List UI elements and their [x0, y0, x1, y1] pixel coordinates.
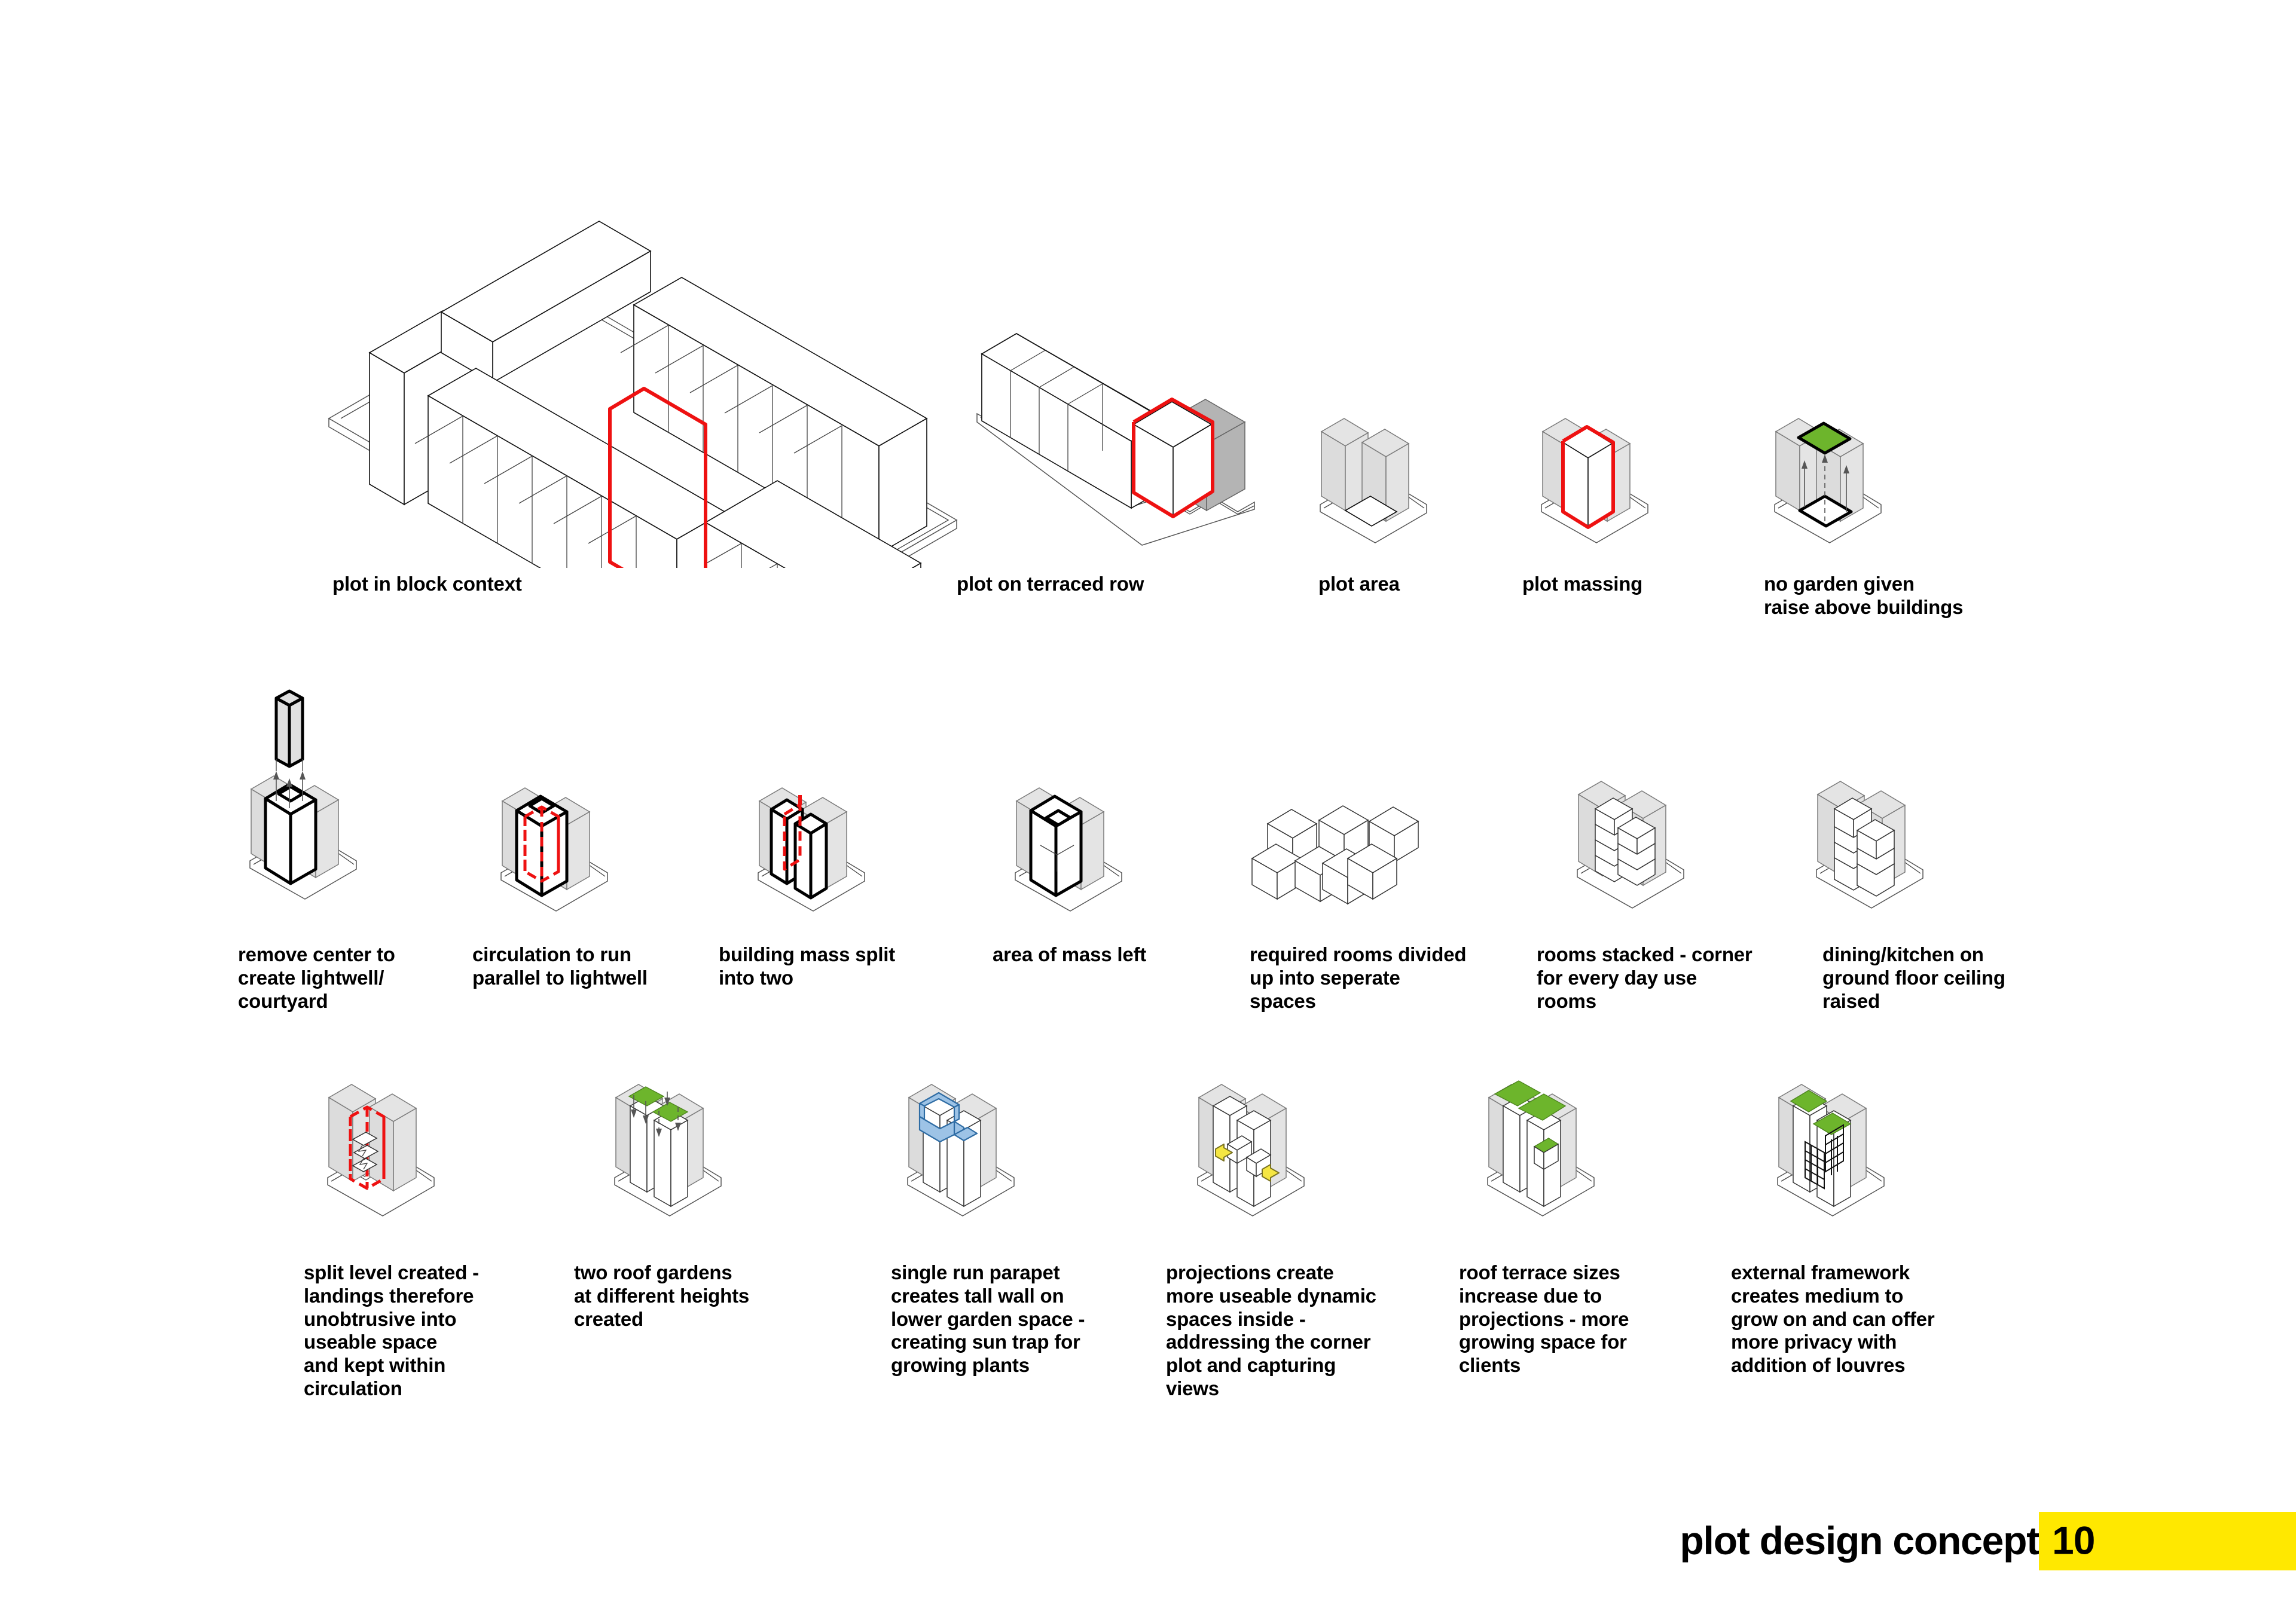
page-number: 10 — [2052, 1517, 2095, 1563]
caption-no-garden-given: no garden given raise above buildings — [1764, 573, 2045, 619]
caption-remove-center: remove center to create lightwell/ court… — [238, 943, 465, 1013]
diagram-projections — [1187, 1070, 1384, 1249]
caption-external-framework: external framework creates medium to gro… — [1731, 1261, 1982, 1377]
stacked-rooms-b — [1857, 820, 1894, 896]
caption-plot-in-block-context: plot in block context — [332, 573, 631, 596]
split-level-landings — [353, 1132, 378, 1172]
caption-roof-terrace-sizes: roof terrace sizes increase due to proje… — [1459, 1261, 1698, 1377]
caption-dining-kitchen: dining/kitchen on ground floor ceiling r… — [1822, 943, 2086, 1013]
diagram-plot-area — [1315, 401, 1495, 574]
diagram-remove-center — [239, 681, 442, 939]
extracted-core — [276, 691, 303, 766]
caption-split-level: split level created - landings therefore… — [304, 1261, 543, 1401]
diagram-rooms-stacked — [1567, 762, 1770, 942]
diagram-plot-on-terraced-row — [975, 311, 1309, 562]
diagram-rooms-divided — [1250, 777, 1501, 933]
caption-two-roof-gardens: two roof gardens at different heights cr… — [574, 1261, 813, 1331]
diagram-circulation-parallel — [490, 765, 688, 945]
diagram-no-garden-given — [1770, 401, 1967, 574]
page-title: plot design concept — [1680, 1518, 2039, 1563]
caption-single-run-parapet: single run parapet creates tall wall on … — [891, 1261, 1136, 1377]
page-number-badge: 10 — [2039, 1512, 2296, 1570]
caption-projections: projections create more useable dynamic … — [1166, 1261, 1417, 1401]
caption-rooms-stacked: rooms stacked - corner for every day use… — [1537, 943, 1812, 1013]
slide-page: plot in block context — [0, 0, 2296, 1623]
caption-area-of-mass-left: area of mass left — [993, 943, 1232, 967]
caption-rooms-divided: required rooms divided up into seperate … — [1250, 943, 1531, 1013]
caption-circulation-parallel: circulation to run parallel to lightwell — [472, 943, 712, 990]
diagram-two-roof-gardens — [604, 1070, 801, 1249]
diagram-roof-terrace-sizes — [1477, 1070, 1674, 1249]
diagram-plot-in-block-context — [323, 161, 975, 568]
diagram-area-of-mass-left — [1004, 765, 1202, 945]
caption-plot-area: plot area — [1318, 573, 1510, 596]
diagram-single-run-parapet — [897, 1070, 1094, 1249]
diagram-plot-massing — [1537, 401, 1716, 574]
caption-mass-split: building mass split into two — [719, 943, 958, 990]
stacked-rooms-b — [1618, 817, 1655, 885]
caption-plot-on-terraced-row: plot on terraced row — [957, 573, 1256, 596]
caption-plot-massing: plot massing — [1522, 573, 1726, 596]
diagram-dining-kitchen — [1806, 762, 2009, 942]
footer: plot design concept 10 — [0, 1468, 2296, 1623]
diagram-split-level — [317, 1070, 514, 1249]
diagram-external-framework — [1767, 1070, 1964, 1249]
diagram-mass-split — [747, 765, 945, 945]
